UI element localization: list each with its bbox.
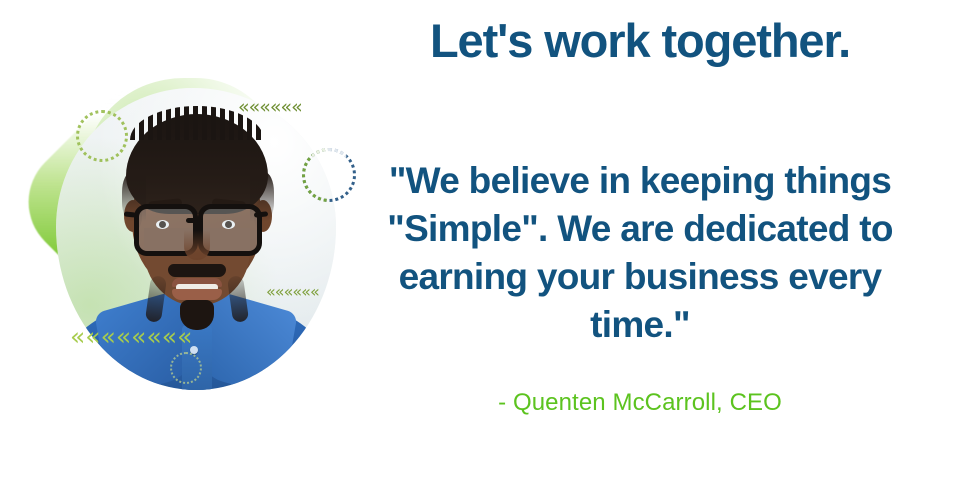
quote-attribution: - Quenten McCarroll, CEO (340, 389, 940, 417)
nose (184, 230, 210, 260)
chevron-row-icon-middle: «««««« (266, 284, 319, 300)
testimonial-quote: "We believe in keeping things "Simple". … (362, 157, 918, 349)
dotted-circle-icon-top-left (76, 110, 128, 162)
chevron-row-icon-top: «««««« (238, 98, 302, 117)
page-title: Let's work together. (340, 16, 940, 66)
mustache (168, 264, 226, 277)
lower-lip (172, 289, 222, 300)
glasses-bridge (186, 218, 202, 223)
hair (126, 114, 268, 214)
dotted-circle-icon-bottom (170, 352, 202, 384)
text-content: Let's work together. "We believe in keep… (340, 0, 940, 483)
testimonial-banner: «««««« «««««« «««««««« Let's work togeth… (0, 0, 980, 483)
chevron-row-icon-bottom: «««««««« (70, 324, 192, 349)
portrait-visual: «««««« «««««« «««««««« (0, 0, 370, 483)
